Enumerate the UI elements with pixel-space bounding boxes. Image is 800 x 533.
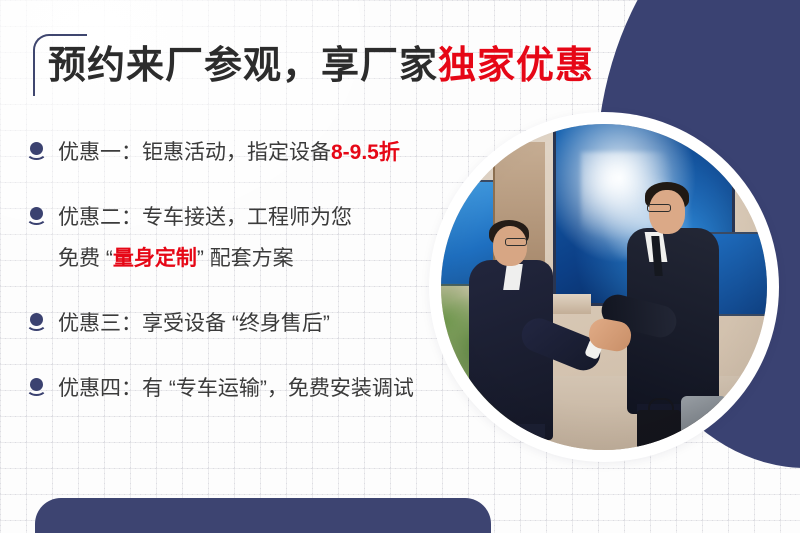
eye-bullet-icon — [26, 202, 48, 232]
right-man-head — [649, 190, 685, 234]
left-man-glasses-icon — [505, 238, 527, 246]
page-title: 预约来厂参观，享厂家独家优惠 — [48, 45, 594, 89]
headline-plain-text: 预约来厂参观，享厂家 — [48, 45, 438, 87]
black-handbag — [637, 410, 681, 450]
list-item-text: 优惠一：钜惠活动，指定设备8-9.5折 — [58, 133, 400, 174]
left-man-head — [493, 226, 527, 266]
list-item-line2-tail: ” 配套方案 — [197, 247, 294, 270]
list-item-text: 优惠三：享受设备 “终身售后” — [58, 304, 330, 345]
list-item-line1-plain: 优惠三：享受设备 “终身售后” — [58, 312, 330, 335]
list-item-line1-plain: 优惠一：钜惠活动，指定设备 — [58, 141, 331, 164]
list-item-line1-plain: 优惠四：有 “专车运输”，免费安装调试 — [58, 377, 414, 400]
list-item-line2-plain: 免费 “ — [58, 247, 113, 270]
list-item-line2: 免费 “量身定制” 配套方案 — [58, 239, 352, 280]
list-item-text: 优惠二：专车接送，工程师为您 免费 “量身定制” 配套方案 — [58, 198, 352, 280]
list-item-line1-accent: 8-9.5折 — [331, 141, 400, 164]
list-item: 优惠一：钜惠活动，指定设备8-9.5折 — [26, 133, 496, 174]
handshake-photo-circle — [435, 118, 773, 456]
promo-banner: 预约来厂参观，享厂家独家优惠 优惠一：钜惠活动，指定设备8-9.5折 优惠二：专… — [0, 0, 800, 533]
list-item-text: 优惠四：有 “专车运输”，免费安装调试 — [58, 369, 414, 410]
list-item: 优惠二：专车接送，工程师为您 免费 “量身定制” 配套方案 — [26, 198, 496, 280]
list-item: 优惠四：有 “专车运输”，免费安装调试 — [26, 369, 496, 410]
right-man-glasses-icon — [647, 204, 671, 212]
grey-bag — [681, 396, 727, 440]
left-man-legs — [479, 424, 545, 450]
headline-accent-text: 独家优惠 — [438, 45, 594, 87]
photo-scene — [441, 124, 767, 450]
list-item-line2-accent: 量身定制 — [113, 247, 197, 270]
eye-bullet-icon — [26, 308, 48, 338]
bottom-navy-bar — [35, 498, 491, 533]
eye-bullet-icon — [26, 137, 48, 167]
benefits-list: 优惠一：钜惠活动，指定设备8-9.5折 优惠二：专车接送，工程师为您 免费 “量… — [26, 133, 496, 434]
handshake-photo — [441, 124, 767, 450]
list-item-line1-plain: 优惠二：专车接送，工程师为您 — [58, 206, 352, 229]
eye-bullet-icon — [26, 373, 48, 403]
list-item: 优惠三：享受设备 “终身售后” — [26, 304, 496, 345]
